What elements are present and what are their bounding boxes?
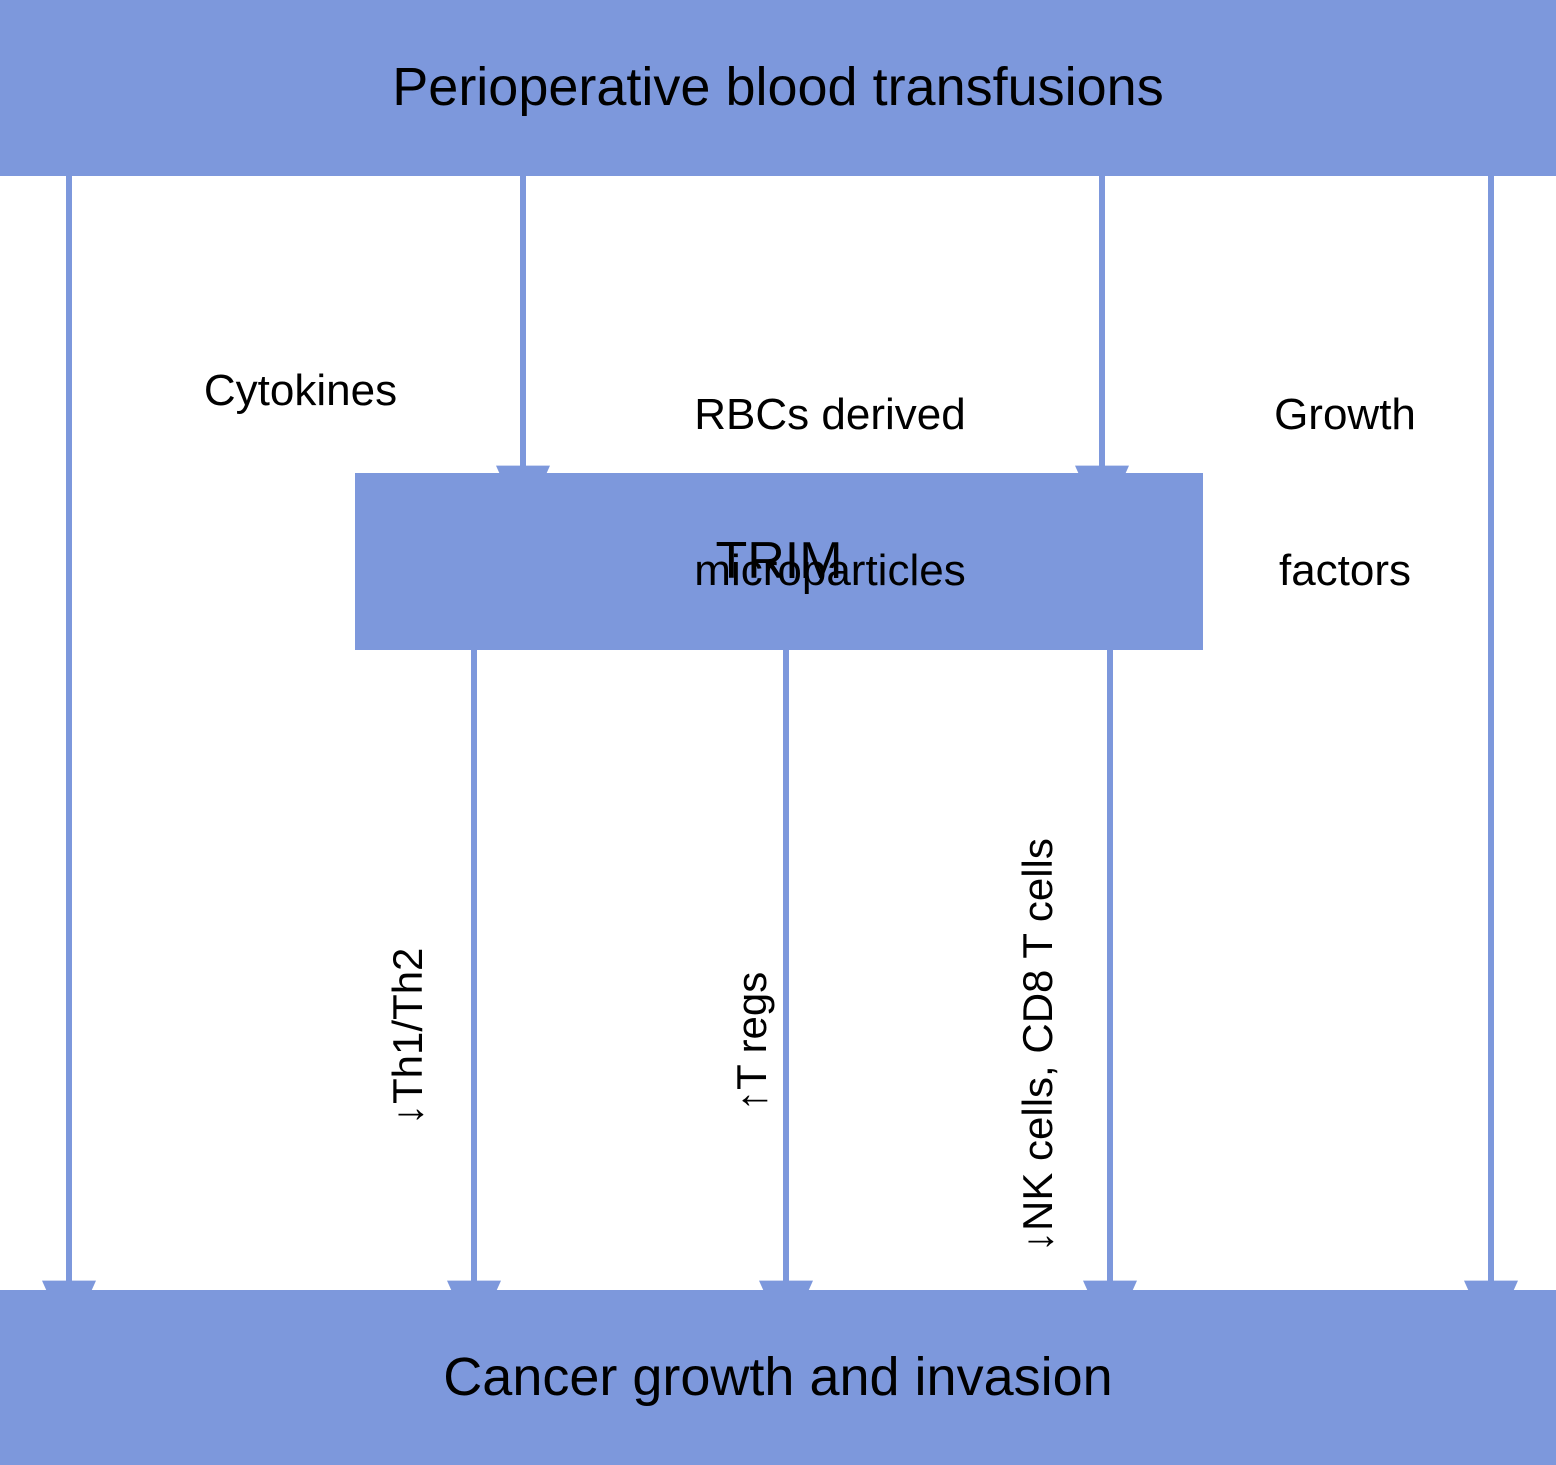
label-th1-th2-text: ↓Th1/Th2	[384, 948, 431, 1125]
label-nk-cd8-text: ↓NK cells, CD8 T cells	[1014, 838, 1061, 1252]
perioperative-blood-transfusions-box: Perioperative blood transfusions	[0, 0, 1556, 176]
top-box-label: Perioperative blood transfusions	[392, 58, 1163, 117]
label-rbc-microparticles: RBCs derived microparticles	[595, 285, 1065, 700]
label-growth-factors: Growth factors	[1230, 285, 1460, 700]
bottom-box-label: Cancer growth and invasion	[443, 1348, 1112, 1407]
label-t-regs: ↑T regs	[728, 972, 776, 1111]
label-t-regs-text: ↑T regs	[728, 972, 775, 1111]
label-growth-factors-line2: factors	[1230, 545, 1460, 597]
label-nk-cd8: ↓NK cells, CD8 T cells	[1014, 838, 1062, 1252]
label-cytokines-text: Cytokines	[204, 366, 397, 415]
label-th1-th2: ↓Th1/Th2	[384, 948, 432, 1125]
label-rbc-microparticles-line1: RBCs derived	[595, 389, 1065, 441]
label-cytokines: Cytokines	[155, 313, 385, 469]
diagram-canvas: Perioperative blood transfusions TRIM Ca…	[0, 0, 1556, 1465]
label-rbc-microparticles-line2: microparticles	[595, 545, 1065, 597]
label-growth-factors-line1: Growth	[1230, 389, 1460, 441]
arrow-layer	[0, 0, 1556, 1465]
cancer-growth-and-invasion-box: Cancer growth and invasion	[0, 1290, 1556, 1465]
